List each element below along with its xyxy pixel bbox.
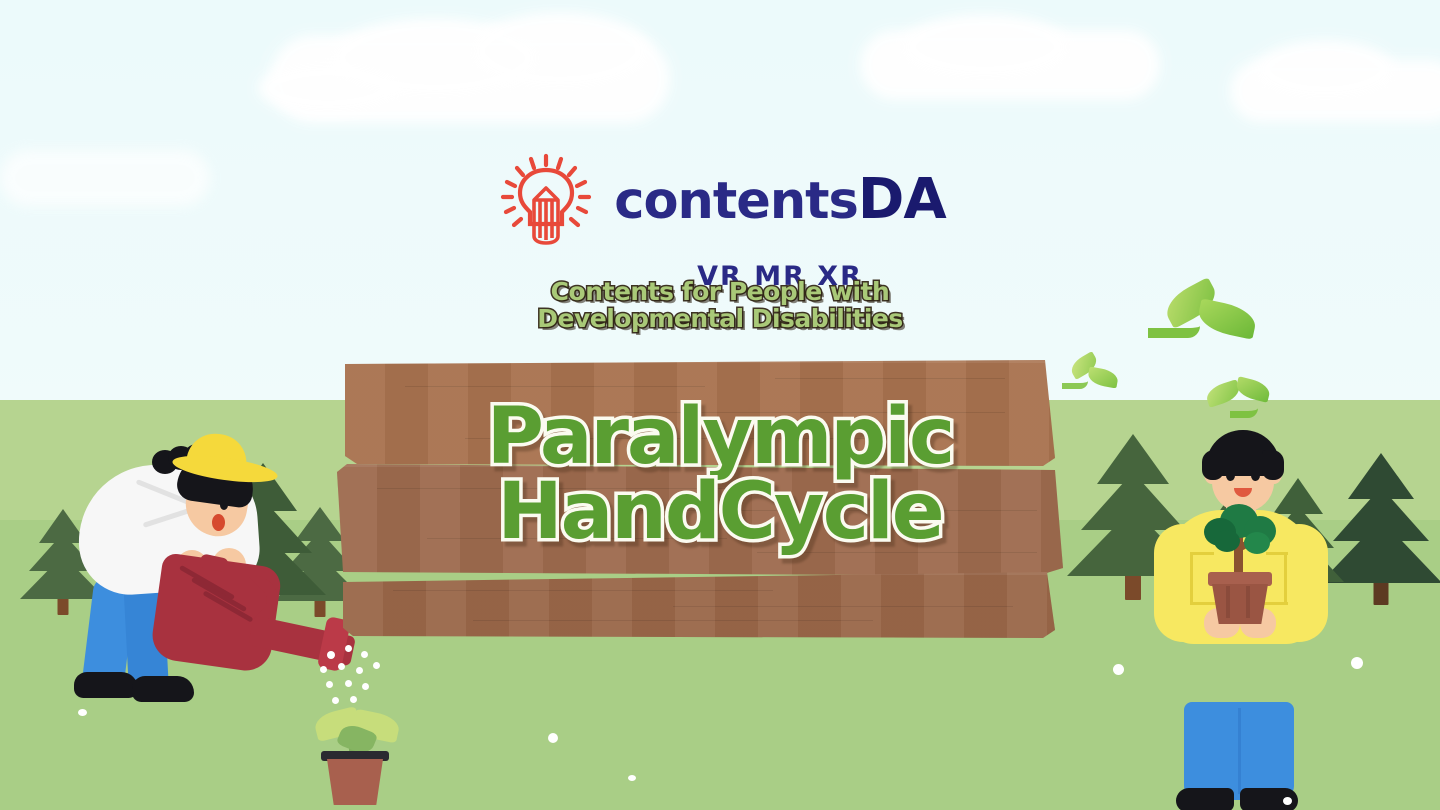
pot-grain — [1246, 586, 1250, 618]
sweater-fold — [1264, 602, 1288, 605]
grass-dot — [1351, 657, 1363, 669]
subtitle-line-1: Contents for People with — [0, 278, 1440, 305]
water-droplet — [326, 681, 333, 688]
page-title: Paralympic HandCycle — [0, 400, 1440, 550]
grass-dot — [78, 709, 87, 716]
cloud-icon — [470, 12, 650, 90]
title-line-2: HandCycle — [0, 475, 1440, 550]
sweater-fold — [1190, 552, 1193, 604]
brand-logo-block: contentsDA VR MR XR — [0, 150, 1440, 292]
cloud-icon — [1255, 40, 1395, 100]
water-droplet — [373, 662, 380, 669]
sweater-fold — [1190, 602, 1216, 605]
sprout-icon — [1056, 355, 1116, 405]
water-droplet — [320, 666, 327, 673]
title-scene: contentsDA VR MR XR Contents for People … — [0, 0, 1440, 810]
pants-crease — [1238, 708, 1241, 794]
shoe-back — [74, 672, 138, 698]
title-line-1: Paralympic — [0, 400, 1440, 475]
water-droplet — [345, 645, 352, 652]
pot-body — [1212, 584, 1268, 624]
grass-dot — [548, 733, 558, 743]
sign-plank-bottom — [343, 572, 1055, 638]
brand-main: contents — [614, 172, 858, 231]
subtitle-text: Contents for People with Developmental D… — [0, 278, 1440, 332]
logo-row: contentsDA — [494, 150, 945, 250]
brand-accent: DA — [858, 167, 946, 232]
cloud-icon — [258, 62, 398, 114]
sweater-fold — [1284, 552, 1287, 604]
shoe-front — [132, 676, 194, 702]
sweater-fold — [1190, 552, 1214, 555]
water-droplet — [361, 651, 368, 658]
grass-dot — [628, 775, 636, 781]
grass-dot — [1113, 664, 1124, 675]
potted-seedling — [305, 695, 415, 810]
brand-wordmark: contentsDA — [614, 172, 945, 228]
water-droplet — [362, 683, 369, 690]
water-droplet — [327, 651, 335, 659]
subtitle-line-2: Developmental Disabilities — [0, 305, 1440, 332]
grass-dot — [1283, 797, 1292, 805]
water-droplet — [345, 680, 352, 687]
lightbulb-pencil-icon — [494, 150, 598, 250]
pot-body — [327, 759, 383, 805]
shoe-left — [1176, 788, 1234, 810]
water-droplet — [356, 667, 363, 674]
pot-rim — [1208, 572, 1272, 586]
water-droplet — [338, 663, 345, 670]
cloud-icon — [900, 14, 1070, 80]
sweater-fold — [1266, 552, 1288, 555]
pot-grain — [1226, 586, 1230, 618]
